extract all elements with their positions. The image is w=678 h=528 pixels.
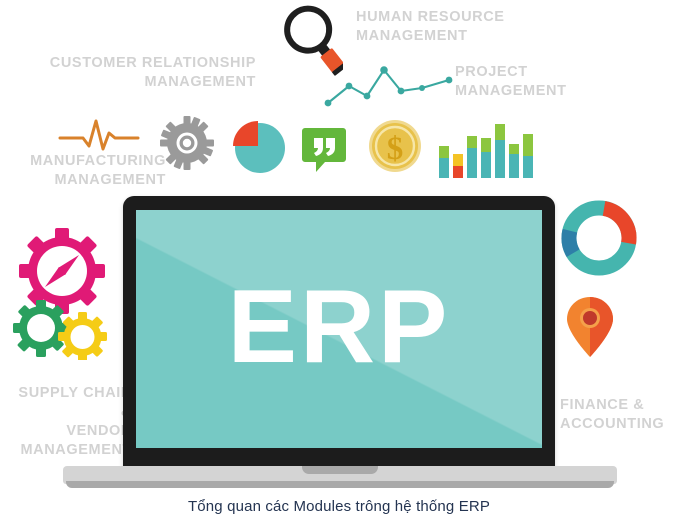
module-label-project-management: Project Management [455,63,655,101]
module-label-finance-accounting: Finance & Accounting [560,396,678,434]
map-pin-icon [566,296,614,358]
bar-chart-icon [437,120,537,180]
chat-bubble-icon [301,126,347,174]
erp-modules-infographic: Customer Relationship Management Human R… [0,0,678,528]
donut-chart-icon [557,196,641,280]
module-label-manufacturing-management: Manufacturing Management [6,152,166,190]
laptop-screen: ERP [136,210,542,448]
laptop-trackpad-notch [302,466,378,474]
gear-icon [160,116,214,170]
module-label-human-resource-management: Human Resource Management [356,8,556,46]
laptop-base-shadow [66,481,614,488]
pulse-icon [58,115,140,155]
module-label-customer-relationship-management: Customer Relationship Management [48,54,256,92]
line-chart-icon [322,58,456,114]
svg-text:$: $ [387,131,404,167]
module-label-supply-chain-vendor-management: Supply Chain & Vendor Management [4,384,132,461]
erp-screen-text: ERP [136,275,542,379]
laptop-lid: ERP [123,196,555,470]
figure-caption: Tổng quan các Modules trông hệ thống ERP [0,498,678,515]
gears-icon [12,228,114,360]
pie-chart-icon [230,118,290,176]
dollar-coin-icon: $ [367,117,423,175]
